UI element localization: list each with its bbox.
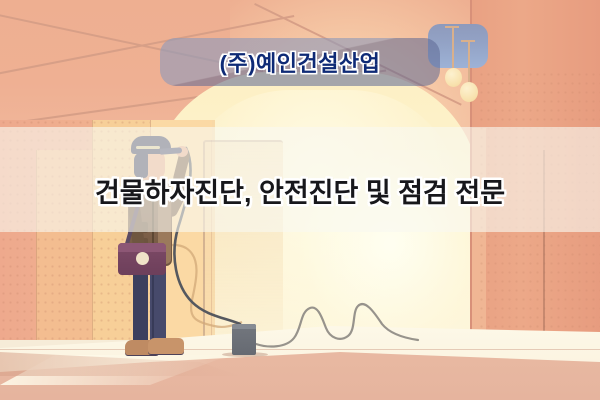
pendant-lamp-2-cord xyxy=(468,40,470,84)
banner-canvas: (주)예인건설산업 건물하자진단, 안전진단 및 점검 전문 xyxy=(0,0,600,400)
company-name-text: (주)예인건설산업 xyxy=(220,46,381,78)
floor-wall-joint xyxy=(0,349,600,350)
pendant-lamp-2-bulb xyxy=(460,82,478,102)
headline-container: 건물하자진단, 안전진단 및 점검 전문 xyxy=(0,165,600,215)
measurement-device-top xyxy=(232,324,256,329)
pendant-lamp-1-cord xyxy=(452,26,454,70)
headline-text: 건물하자진단, 안전진단 및 점검 전문 xyxy=(95,171,505,210)
pendant-lamp-1-bulb xyxy=(445,68,462,87)
worker-tool-bag-flap xyxy=(118,243,166,252)
worker-boot-right xyxy=(148,338,184,354)
worker-tool-bag-clasp xyxy=(136,252,149,265)
